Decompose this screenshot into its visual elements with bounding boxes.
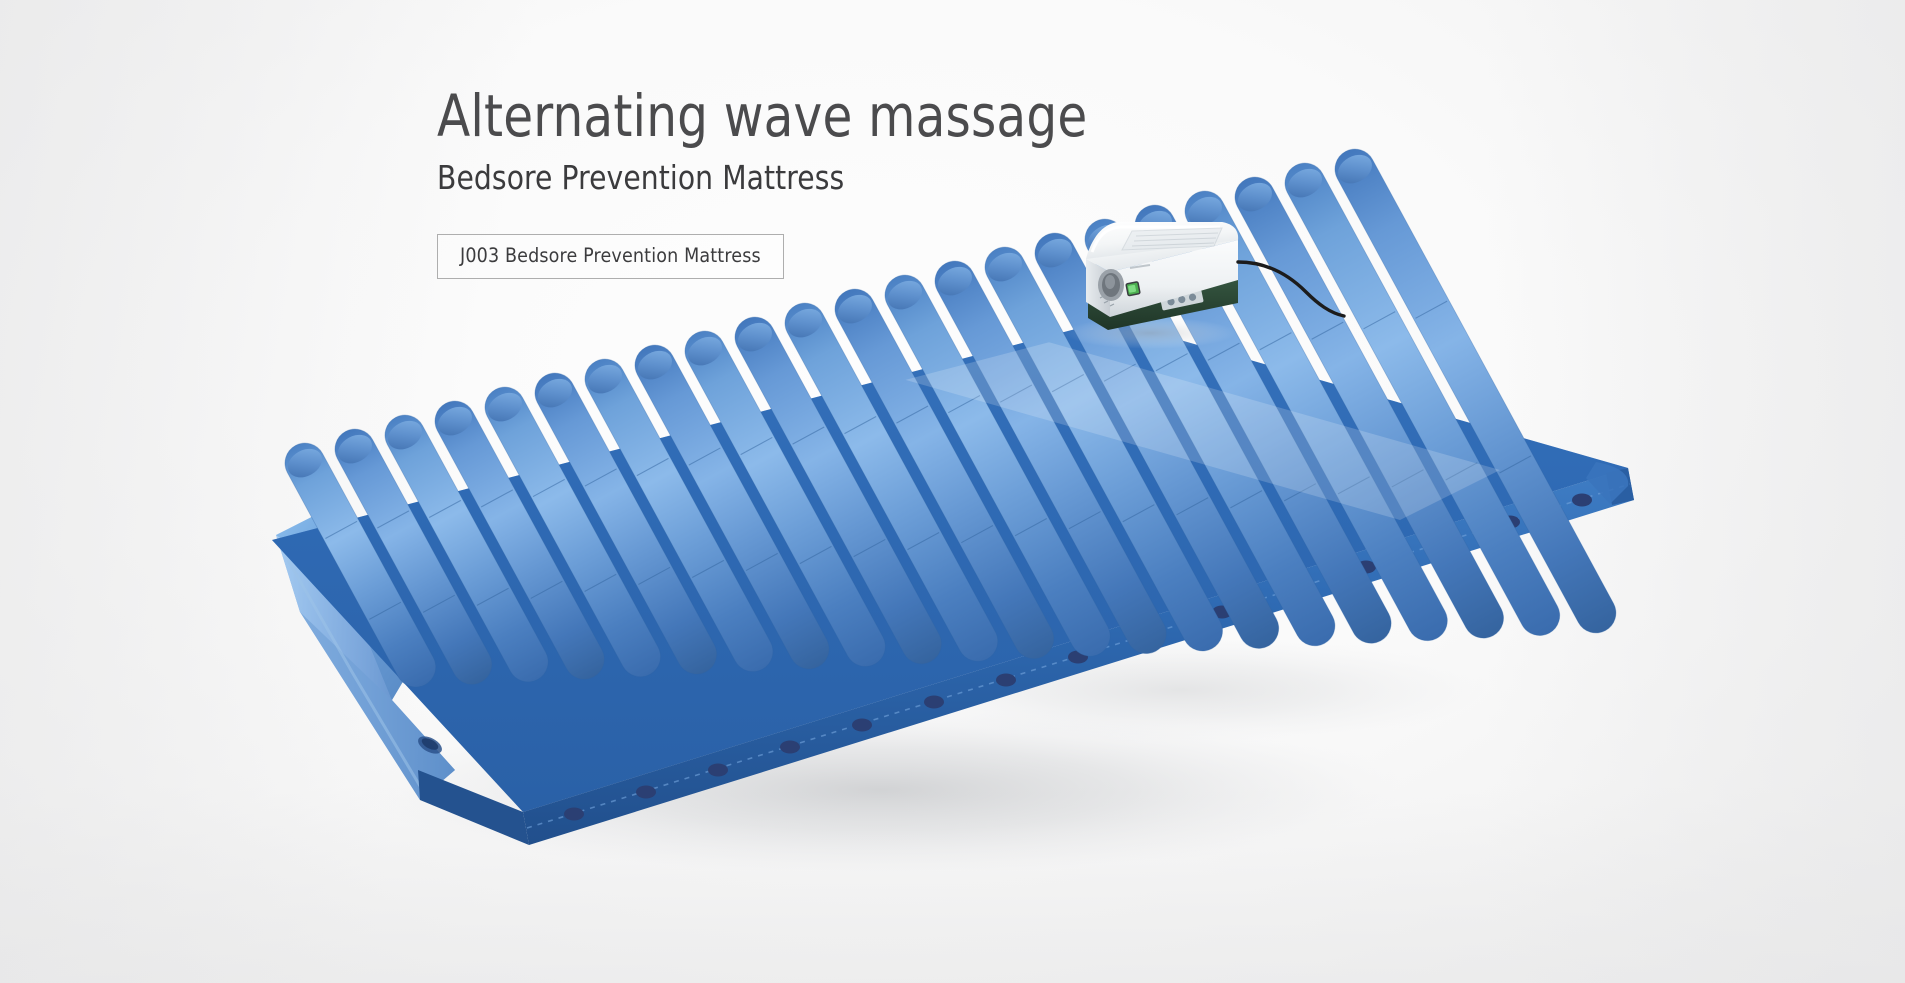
cell-highlight <box>800 300 1500 520</box>
mattress-shadow <box>320 698 1440 882</box>
mattress-left-fold <box>276 500 455 800</box>
air-outlet-ports <box>1167 293 1197 306</box>
banner-copy: Alternating wave massage Bedsore Prevent… <box>437 86 1337 279</box>
page-title: Alternating wave massage <box>437 86 1274 147</box>
page-subtitle: Bedsore Prevention Mattress <box>437 160 1292 196</box>
model-name-button[interactable]: J003 Bedsore Prevention Mattress <box>437 234 784 279</box>
mattress-side-wall <box>418 468 1634 845</box>
product-banner: Alternating wave massage Bedsore Prevent… <box>0 0 1905 983</box>
power-indicator <box>1126 282 1140 296</box>
snap-buttons <box>564 494 1592 821</box>
mattress-base-sheet <box>272 320 1628 812</box>
